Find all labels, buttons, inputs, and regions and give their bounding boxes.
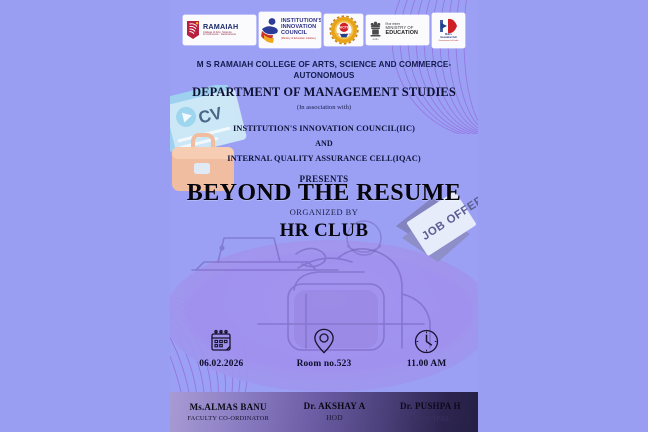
organiser-iic: INSTITUTION'S INNOVATION COUNCIL(IIC)	[170, 124, 478, 133]
organiser-and: AND	[170, 139, 478, 148]
college-name-line1: M S RAMAIAH COLLEGE OF ARTS, SCIENCE AND…	[170, 60, 478, 71]
event-time: 11.00 AM	[407, 359, 447, 369]
svg-text:सत्यमेव: सत्यमेव	[373, 38, 380, 41]
event-venue-block: Room no.523	[276, 328, 372, 369]
organizer-name: HR CLUB	[170, 220, 478, 242]
poster-heading: M S RAMAIAH COLLEGE OF ARTS, SCIENCE AND…	[170, 60, 478, 111]
event-time-block: 11.00 AM	[379, 328, 475, 369]
ramaiah-logo-title: RAMAIAH	[203, 23, 238, 30]
organiser-iqac: INTERNAL QUALITY ASSURANCE CELL(IQAC)	[170, 154, 478, 163]
organized-by-label: ORGANIZED BY	[170, 208, 478, 217]
ramaiah-logo: RAMAIAH College of Arts, Science & Comme…	[183, 15, 256, 45]
clock-icon	[414, 328, 439, 354]
footer-person-2: Dr. AKSHAY A HOD	[304, 401, 366, 423]
logo-strip: RAMAIAH College of Arts, Science & Comme…	[170, 12, 478, 48]
footer-name-3: Dr. PUSHPA H	[400, 401, 461, 412]
institutions-innovation-council-logo: INSTITUTION'S INNOVATION COUNCIL (Minist…	[259, 12, 321, 48]
event-details-row: 06.02.2026 Room no.523	[170, 328, 478, 380]
ministry-of-education-logo: सत्यमेव शिक्षा मंत्रालय MINISTRY OF EDUC…	[366, 15, 429, 45]
organisers-block: INSTITUTION'S INNOVATION COUNCIL(IIC) AN…	[170, 124, 478, 184]
aicte-gear-icon: AICTE Est. only dtory	[328, 15, 360, 45]
footer-role-1: FACULTY CO-ORDINATOR	[187, 415, 269, 423]
footer-person-3: Dr. PUSHPA H PRINCIPAL	[400, 401, 461, 423]
event-title: BEYOND THE RESUME	[170, 180, 478, 207]
event-date: 06.02.2026	[199, 359, 243, 369]
innovation-cell-icon	[439, 18, 459, 34]
event-venue: Room no.523	[297, 359, 352, 369]
event-date-block: 06.02.2026	[173, 328, 269, 369]
ramaiah-logo-sub2: & Commerce - Autonomous	[203, 34, 238, 37]
footer-person-1: Ms.ALMAS BANU FACULTY CO-ORDINATOR	[187, 402, 269, 422]
aicte-label: AICTE	[338, 26, 349, 30]
association-label: (In association with)	[170, 104, 478, 111]
calendar-icon	[209, 328, 233, 354]
aicte-logo: AICTE Est. only dtory	[324, 14, 363, 46]
location-pin-icon	[312, 328, 336, 354]
footer-name-2: Dr. AKSHAY A	[304, 401, 366, 412]
ramaiah-emblem-icon	[186, 20, 200, 40]
ashoka-emblem-icon: सत्यमेव	[368, 19, 383, 41]
poster-screenshot: CV JOB OFFER	[0, 0, 648, 432]
moes-innovation-cell-logo: MoE's Innovation Cell Government of Indi…	[432, 13, 465, 48]
footer-name-1: Ms.ALMAS BANU	[190, 402, 267, 413]
footer-role-2: HOD	[326, 414, 343, 423]
college-name-line2: AUTONOMOUS	[170, 71, 478, 82]
iic-sub: (Ministry of Education Initiative)	[281, 38, 321, 41]
department-name: DEPARTMENT OF MANAGEMENT STUDIES	[170, 85, 478, 100]
footer-role-3: PRINCIPAL	[410, 414, 450, 423]
mic-line3: Government of India	[439, 40, 459, 43]
iic-emblem-icon	[260, 17, 279, 43]
moe-line2: EDUCATION	[386, 31, 419, 37]
event-poster: CV JOB OFFER	[170, 0, 478, 432]
poster-footer: Ms.ALMAS BANU FACULTY CO-ORDINATOR Dr. A…	[170, 392, 478, 432]
